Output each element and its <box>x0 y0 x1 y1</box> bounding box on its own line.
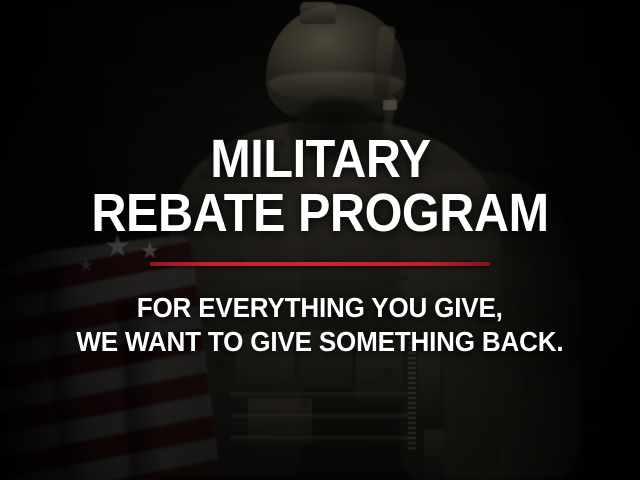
military-rebate-banner: ★ ★ ★ MILITARY REBATE PROGRAM FOR EVERYT… <box>0 0 640 480</box>
red-divider-rule <box>150 262 490 266</box>
subheadline-line-2: WE WANT TO GIVE SOMETHING BACK. <box>76 326 563 357</box>
banner-content: MILITARY REBATE PROGRAM FOR EVERYTHING Y… <box>0 0 640 480</box>
subheadline-line-1: FOR EVERYTHING YOU GIVE, <box>137 292 503 323</box>
headline-line-2: REBATE PROGRAM <box>91 188 548 240</box>
headline-line-1: MILITARY <box>210 134 430 186</box>
